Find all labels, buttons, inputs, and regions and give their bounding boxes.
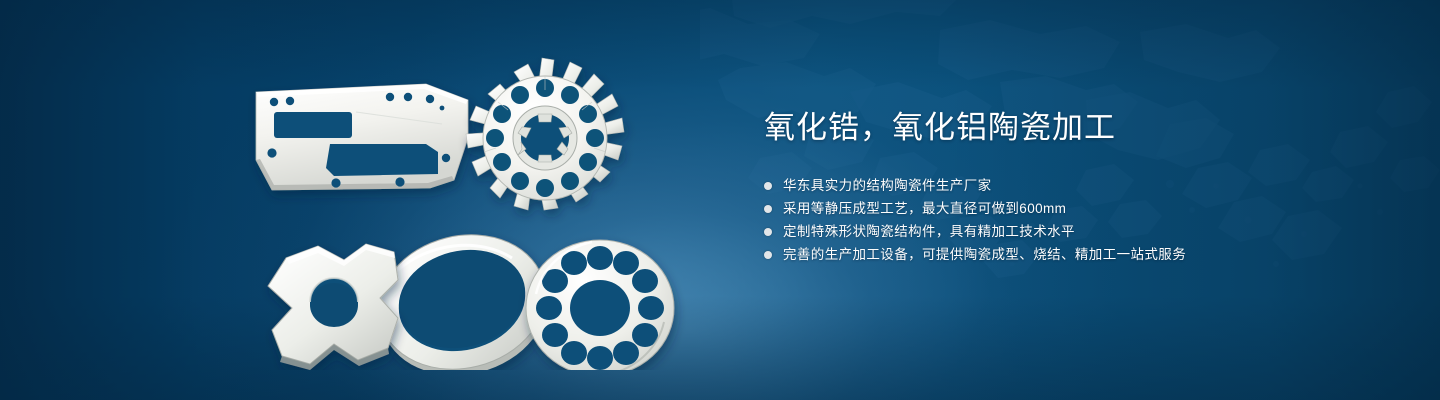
banner-copy: 氧化锆，氧化铝陶瓷加工 华东具实力的结构陶瓷件生产厂家 采用等静压成型工艺，最大… [764, 108, 1324, 266]
product-ceramic-flat-plate [256, 84, 468, 190]
product-ceramic-cross-plate [268, 244, 398, 370]
promo-banner: 氧化锆，氧化铝陶瓷加工 华东具实力的结构陶瓷件生产厂家 采用等静压成型工艺，最大… [0, 0, 1440, 400]
bullet-dot-icon [764, 205, 772, 213]
product-ceramic-perforated-disc [526, 240, 674, 370]
feature-list-item: 华东具实力的结构陶瓷件生产厂家 [764, 174, 1324, 197]
feature-text: 完善的生产加工设备，可提供陶瓷成型、烧结、精加工一站式服务 [783, 243, 1186, 266]
feature-list-item: 完善的生产加工设备，可提供陶瓷成型、烧结、精加工一站式服务 [764, 243, 1324, 266]
bullet-dot-icon [764, 228, 772, 236]
feature-text: 定制特殊形状陶瓷结构件，具有精加工技术水平 [783, 220, 1075, 243]
bullet-dot-icon [764, 182, 772, 190]
feature-text: 采用等静压成型工艺，最大直径可做到600mm [783, 197, 1066, 220]
product-ceramic-impeller [466, 58, 624, 210]
feature-list-item: 定制特殊形状陶瓷结构件，具有精加工技术水平 [764, 220, 1324, 243]
feature-list: 华东具实力的结构陶瓷件生产厂家 采用等静压成型工艺，最大直径可做到600mm 定… [764, 174, 1324, 266]
product-image-group [230, 40, 700, 370]
banner-headline: 氧化锆，氧化铝陶瓷加工 [764, 108, 1324, 148]
feature-text: 华东具实力的结构陶瓷件生产厂家 [783, 174, 992, 197]
bullet-dot-icon [764, 251, 772, 259]
feature-list-item: 采用等静压成型工艺，最大直径可做到600mm [764, 197, 1324, 220]
